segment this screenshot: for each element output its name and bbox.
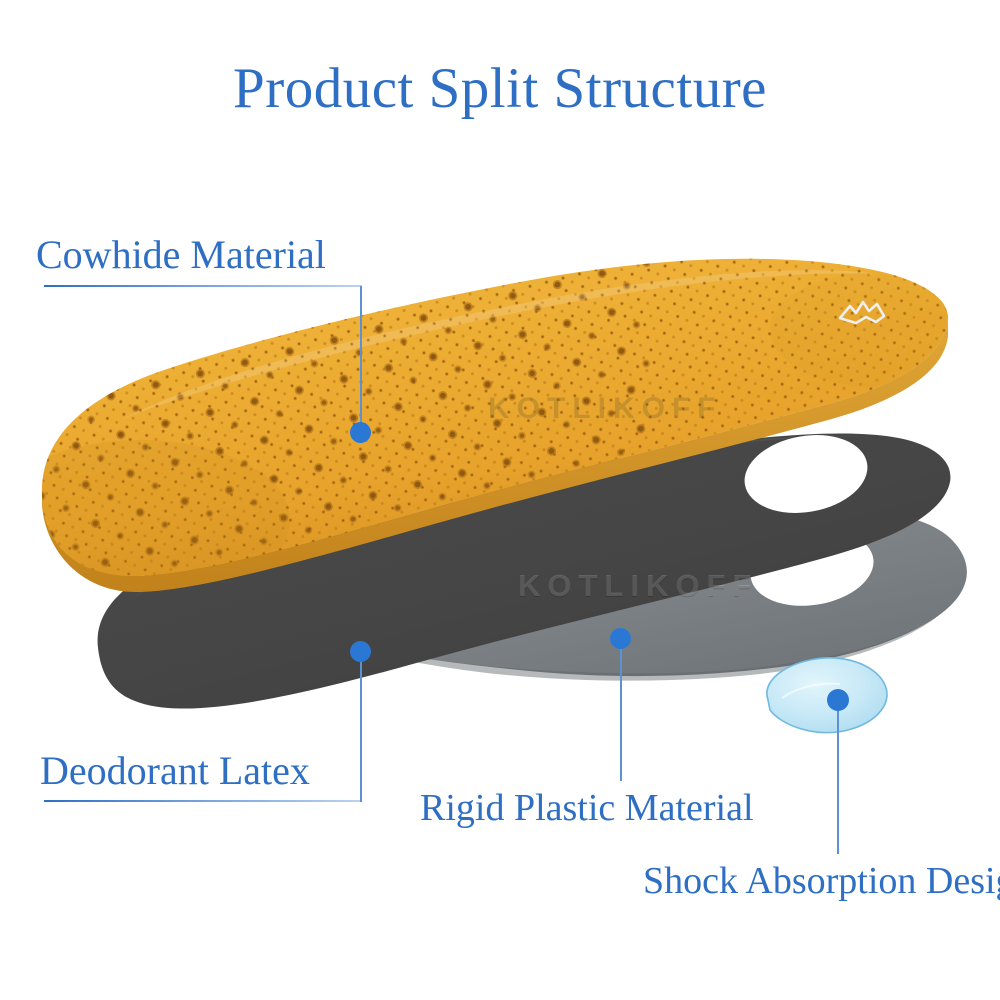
callout-dot-deodorant[interactable]	[350, 641, 371, 662]
leader-line-rigid	[620, 639, 622, 781]
product-infographic: KOTLIKOFF KOTLIKOFF Product Split Struct…	[0, 0, 1000, 1000]
leader-line-cowhide	[360, 286, 362, 432]
callout-underline-cowhide	[44, 285, 362, 287]
callout-label-shock: Shock Absorption Design	[643, 862, 1000, 902]
leader-line-shock	[837, 706, 839, 854]
callout-dot-rigid[interactable]	[610, 628, 631, 649]
callout-dot-cowhide[interactable]	[350, 422, 371, 443]
callout-label-cowhide: Cowhide Material	[36, 234, 326, 276]
insole-exploded-illustration	[0, 0, 1000, 1000]
callout-label-deodorant: Deodorant Latex	[40, 750, 310, 792]
leader-line-deodorant	[360, 652, 362, 802]
callout-underline-deodorant	[44, 800, 362, 802]
page-title: Product Split Structure	[0, 58, 1000, 120]
callout-dot-shock[interactable]	[827, 689, 849, 711]
callout-label-rigid: Rigid Plastic Material	[420, 789, 754, 829]
